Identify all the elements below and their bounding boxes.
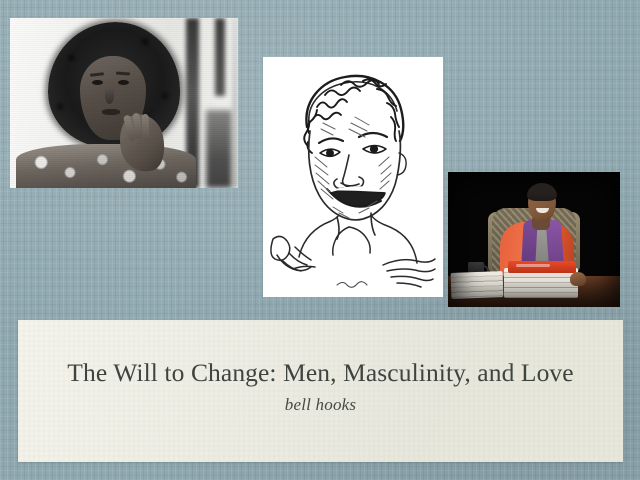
title-text-block: The Will to Change: Men, Masculinity, an… — [18, 358, 623, 415]
bw-photo-scene — [10, 18, 238, 188]
photo-color-seated — [448, 172, 620, 307]
ink-sketch-drawing — [263, 57, 443, 297]
photo-portrait-bw — [10, 18, 238, 188]
slide-title: The Will to Change: Men, Masculinity, an… — [18, 358, 623, 388]
illustration-ink-sketch — [263, 57, 443, 297]
slide-subtitle: bell hooks — [18, 395, 623, 415]
cp-vignette — [448, 172, 620, 307]
presentation-slide: The Will to Change: Men, Masculinity, an… — [0, 0, 640, 480]
title-panel: The Will to Change: Men, Masculinity, an… — [18, 320, 623, 462]
bw-film-grain — [10, 18, 238, 188]
